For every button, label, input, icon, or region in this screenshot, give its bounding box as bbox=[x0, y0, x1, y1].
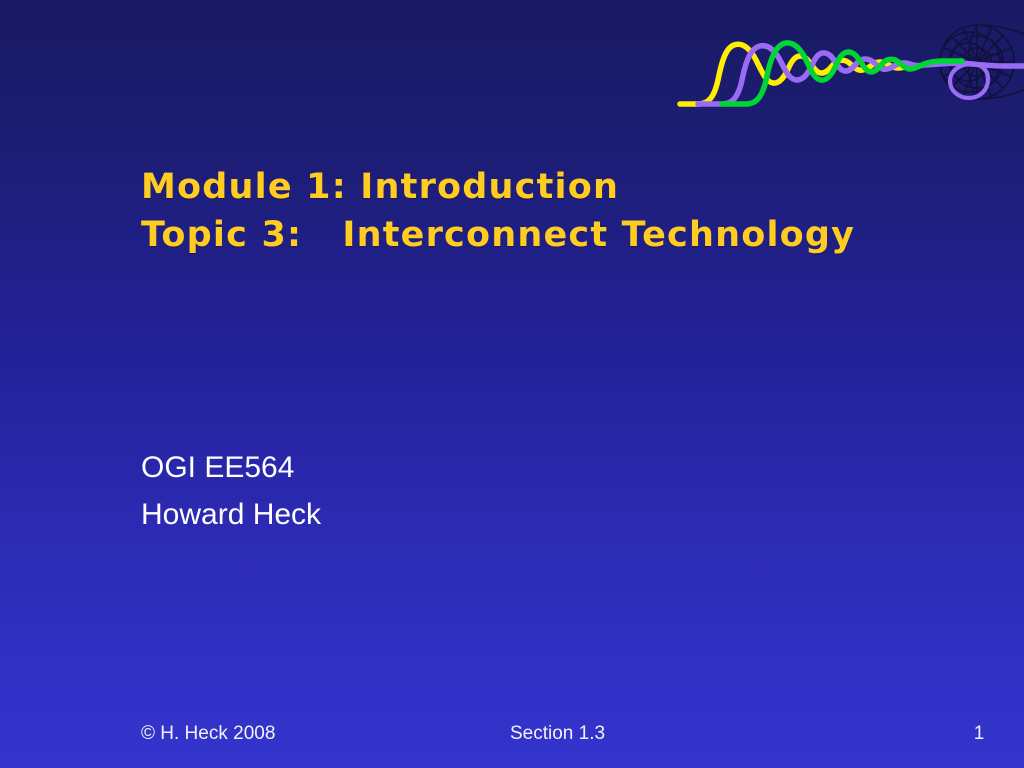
body-line-author: Howard Heck bbox=[141, 491, 841, 538]
title-line-2: Topic 3: Interconnect Technology bbox=[141, 211, 961, 259]
footer-page-number: 1 bbox=[962, 721, 996, 747]
slide-footer: © H. Heck 2008 Section 1.3 1 bbox=[0, 718, 1024, 752]
ringing-waveform-smith-chart-graphic bbox=[672, 14, 1024, 118]
presentation-slide: Module 1: Introduction Topic 3: Intercon… bbox=[0, 0, 1024, 768]
footer-copyright: © H. Heck 2008 bbox=[141, 721, 275, 747]
slide-body: OGI EE564 Howard Heck bbox=[141, 444, 841, 538]
body-line-course: OGI EE564 bbox=[141, 444, 841, 491]
title-line-1: Module 1: Introduction bbox=[141, 163, 961, 211]
green-waveform bbox=[722, 43, 962, 104]
yellow-waveform bbox=[680, 44, 912, 104]
slide-title: Module 1: Introduction Topic 3: Intercon… bbox=[141, 163, 961, 259]
footer-section: Section 1.3 bbox=[510, 721, 605, 747]
